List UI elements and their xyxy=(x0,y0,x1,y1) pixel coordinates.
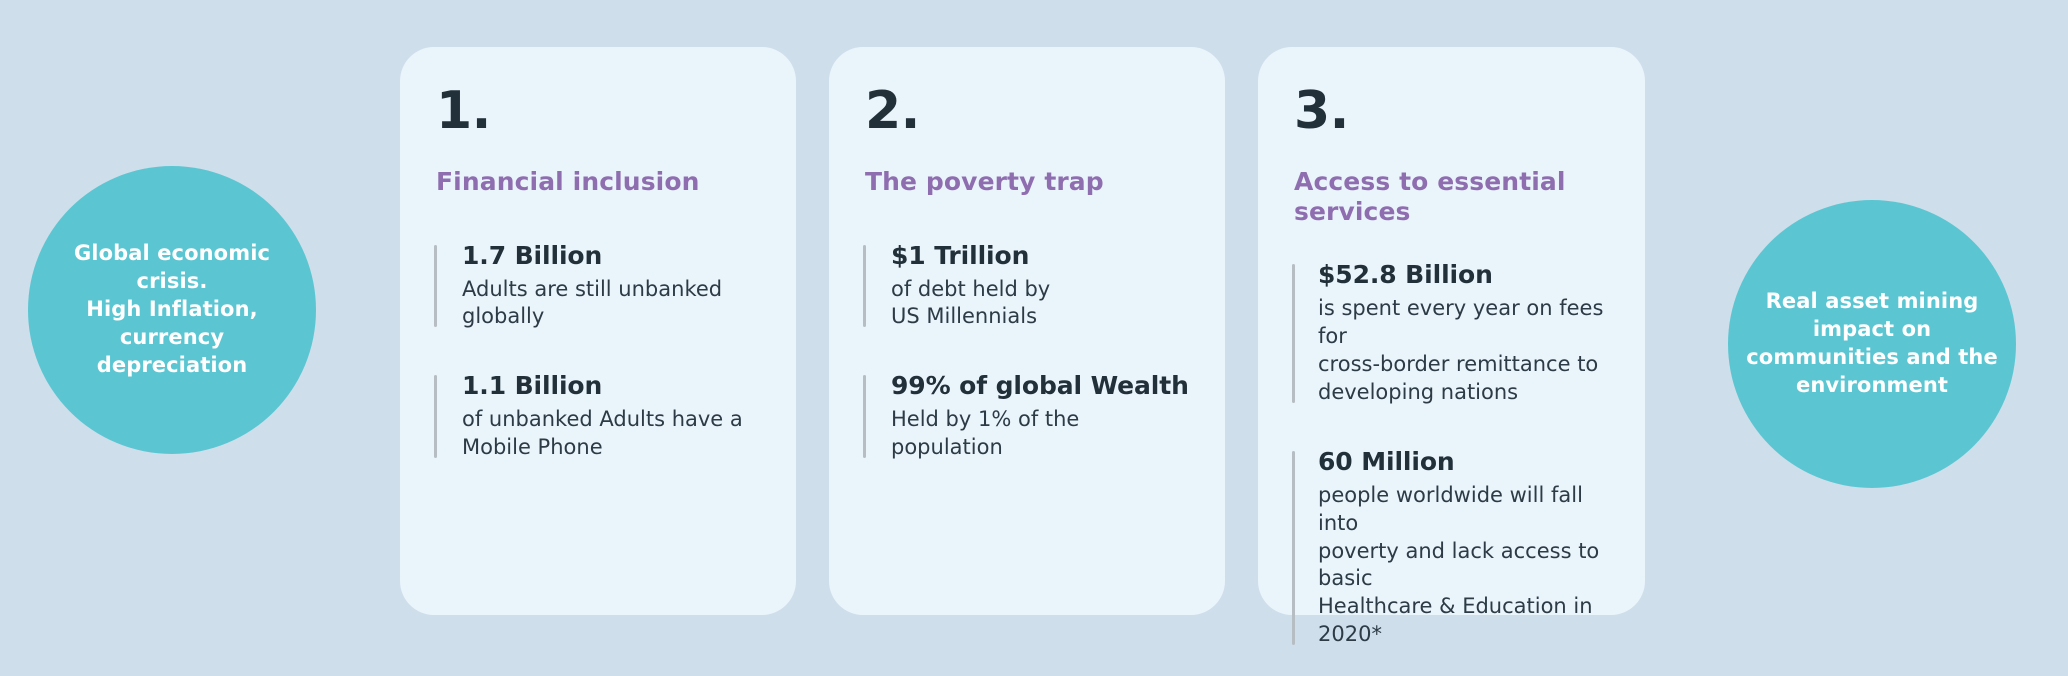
stat-value: 99% of global Wealth xyxy=(891,371,1191,401)
stat-description: is spent every year on fees for cross-bo… xyxy=(1318,295,1611,407)
stat-item: 99% of global Wealth Held by 1% of the p… xyxy=(863,371,1191,462)
stat-description: of unbanked Adults have a Mobile Phone xyxy=(462,406,762,462)
card-number: 3. xyxy=(1294,75,1611,137)
stat-list: $1 Trillion of debt held by US Millennia… xyxy=(863,241,1191,463)
stat-item: 1.7 Billion Adults are still unbanked gl… xyxy=(434,241,762,332)
stat-value: 1.1 Billion xyxy=(462,371,762,401)
stat-value: 60 Million xyxy=(1318,447,1611,477)
stat-description: of debt held by US Millennials xyxy=(891,276,1191,332)
stat-list: 1.7 Billion Adults are still unbanked gl… xyxy=(434,241,762,463)
stat-description: Adults are still unbanked globally xyxy=(462,276,762,332)
stat-item: 60 Million people worldwide will fall in… xyxy=(1292,447,1611,650)
stat-accent-bar xyxy=(434,245,437,328)
stat-description: people worldwide will fall into poverty … xyxy=(1318,482,1611,650)
circle-left-label: Global economic crisis. High Inflation, … xyxy=(28,240,316,380)
stat-accent-bar xyxy=(863,375,866,458)
infographic-canvas: Global economic crisis. High Inflation, … xyxy=(0,0,2068,676)
stat-description: Held by 1% of the population xyxy=(891,406,1191,462)
stat-accent-bar xyxy=(1292,264,1295,403)
card-title: The poverty trap xyxy=(865,167,1191,197)
stat-accent-bar xyxy=(434,375,437,458)
card-title: Access to essential services xyxy=(1294,167,1611,226)
card-number: 1. xyxy=(436,75,762,137)
stat-accent-bar xyxy=(863,245,866,328)
stat-item: 1.1 Billion of unbanked Adults have a Mo… xyxy=(434,371,762,462)
stat-value: 1.7 Billion xyxy=(462,241,762,271)
card-poverty-trap: 2. The poverty trap $1 Trillion of debt … xyxy=(829,47,1225,615)
stat-item: $1 Trillion of debt held by US Millennia… xyxy=(863,241,1191,332)
stat-value: $1 Trillion xyxy=(891,241,1191,271)
card-title: Financial inclusion xyxy=(436,167,762,197)
card-access-to-essential-services: 3. Access to essential services $52.8 Bi… xyxy=(1258,47,1645,615)
circle-right-label: Real asset mining impact on communities … xyxy=(1728,288,2016,400)
card-number: 2. xyxy=(865,75,1191,137)
circle-real-asset-mining-impact: Real asset mining impact on communities … xyxy=(1728,200,2016,488)
card-financial-inclusion: 1. Financial inclusion 1.7 Billion Adult… xyxy=(400,47,796,615)
stat-accent-bar xyxy=(1292,451,1295,646)
stat-value: $52.8 Billion xyxy=(1318,260,1611,290)
circle-global-economic-crisis: Global economic crisis. High Inflation, … xyxy=(28,166,316,454)
stat-list: $52.8 Billion is spent every year on fee… xyxy=(1292,260,1611,649)
stat-item: $52.8 Billion is spent every year on fee… xyxy=(1292,260,1611,407)
